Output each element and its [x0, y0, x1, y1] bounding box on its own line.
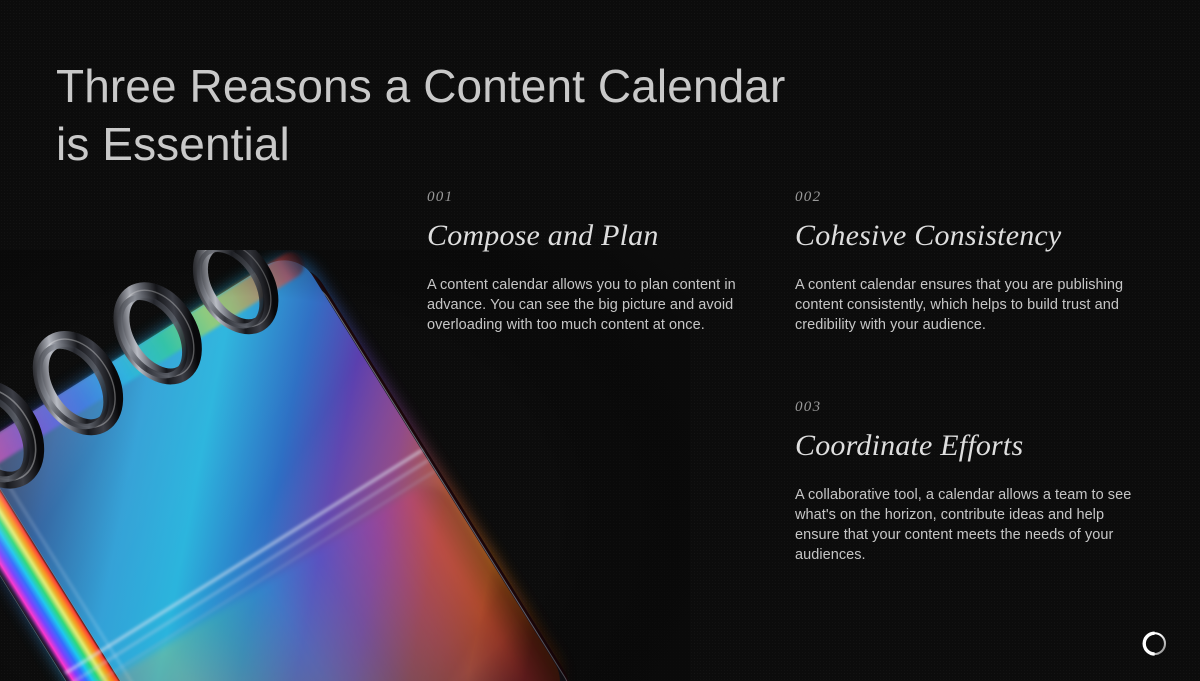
reason-body: A collaborative tool, a calendar allows …: [795, 485, 1145, 565]
reason-number: 002: [795, 190, 1145, 205]
reason-number: 001: [427, 190, 767, 205]
crescent-ring-logo: [1138, 627, 1170, 659]
reason-heading: Coordinate Efforts: [795, 429, 1145, 463]
reason-number: 003: [795, 400, 1145, 415]
reason-heading: Cohesive Consistency: [795, 219, 1145, 253]
reason-card-003: 003 Coordinate Efforts A collaborative t…: [795, 400, 1145, 565]
reason-card-001: 001 Compose and Plan A content calendar …: [427, 190, 767, 335]
slide-canvas: Three Reasons a Content Calendar is Esse…: [0, 0, 1200, 681]
reason-heading: Compose and Plan: [427, 219, 767, 253]
reason-body: A content calendar ensures that you are …: [795, 275, 1145, 335]
page-title: Three Reasons a Content Calendar is Esse…: [56, 57, 816, 173]
reason-body: A content calendar allows you to plan co…: [427, 275, 767, 335]
reason-card-002: 002 Cohesive Consistency A content calen…: [795, 190, 1145, 335]
